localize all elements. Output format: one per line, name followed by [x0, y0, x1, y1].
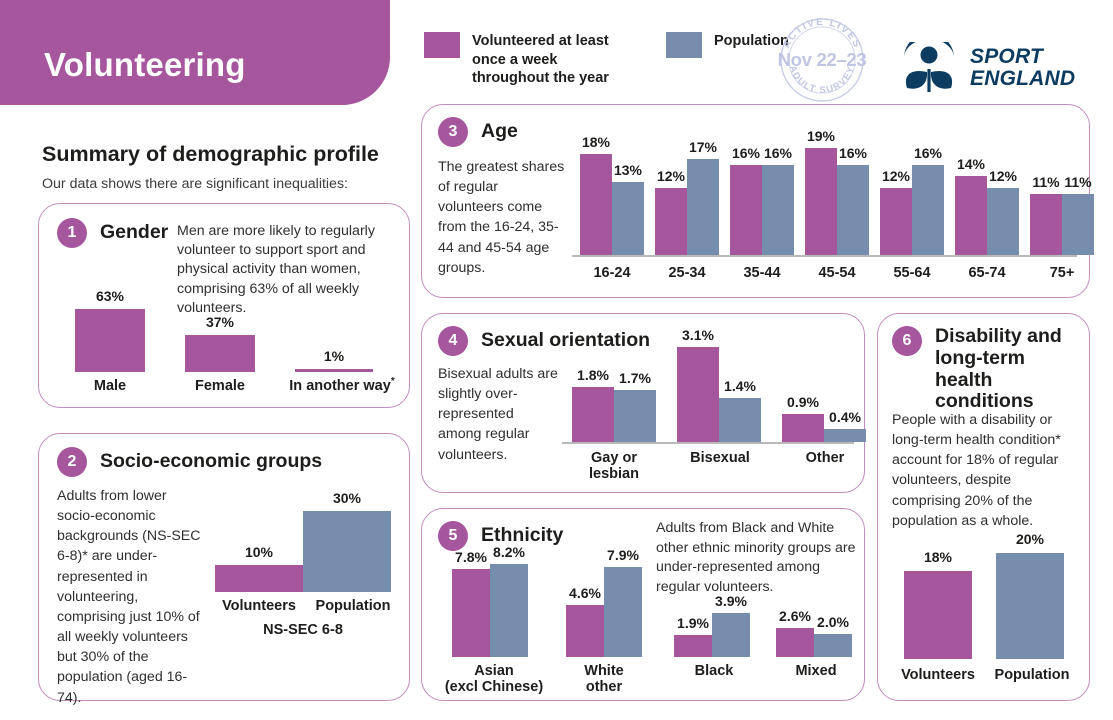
bar-label-age-65-74-population: 12%	[989, 168, 1017, 184]
summary-subtitle: Our data shows there are significant ine…	[42, 176, 348, 192]
bar-age-25-34-population: 17%	[687, 159, 719, 255]
bar-group-age-45-54: 19% 16%	[805, 148, 869, 255]
panel-ethnicity-badge: 5	[438, 521, 468, 551]
bar-label-age-75plus-population: 11%	[1064, 174, 1091, 190]
bar-asian-population: 8.2%	[490, 564, 528, 657]
bar-label-age-55-64-volunteers: 12%	[882, 168, 910, 184]
bar-group-female: 37%	[185, 335, 255, 372]
panel-disability-text: People with a disability or long-term he…	[892, 410, 1082, 531]
cat-asian-line1: Asian	[426, 663, 562, 679]
cat-label-another-way-text: In another way	[289, 378, 391, 394]
panel-ethnicity: 5 Ethnicity Adults from Black and White …	[421, 508, 865, 701]
bar-age-45-54-volunteers: 19%	[805, 148, 837, 255]
bar-other-orientation-volunteers: 0.9%	[782, 414, 824, 442]
cat-label-black: Black	[666, 663, 762, 679]
cat-label-male: Male	[75, 378, 145, 394]
legend-swatch-purple-icon	[424, 32, 460, 58]
bar-mixed-volunteers: 2.6%	[776, 628, 814, 657]
axis-caption-socio: NS-SEC 6-8	[215, 622, 391, 638]
bar-label-other-orientation-population: 0.4%	[829, 409, 861, 425]
bar-group-male: 63%	[75, 309, 145, 372]
bar-black-volunteers: 1.9%	[674, 635, 712, 657]
bar-bisexual-population: 1.4%	[719, 398, 761, 442]
cat-label-socio-volunteers: Volunteers	[209, 598, 309, 614]
footnote-asterisk-gender: *	[391, 376, 395, 387]
bar-label-mixed-volunteers: 2.6%	[779, 608, 811, 624]
bar-label-black-population: 3.9%	[715, 593, 747, 609]
cat-label-age-35-44: 35-44	[722, 265, 802, 281]
bar-group-disability-volunteers: 18%	[904, 571, 972, 659]
bar-group-asian: 7.8% 8.2%	[452, 564, 528, 657]
svg-text:ACTIVE LIVES: ACTIVE LIVES	[781, 17, 863, 50]
bar-label-another-way: 1%	[324, 348, 344, 364]
bar-age-35-44-population: 16%	[762, 165, 794, 255]
bar-disability-population: 20%	[996, 553, 1064, 659]
bar-label-age-45-54-volunteers: 19%	[807, 128, 835, 144]
bar-group-another-way: 1%	[295, 369, 373, 372]
bar-gay-lesbian-population: 1.7%	[614, 390, 656, 442]
cat-label-age-75plus: 75+	[1022, 265, 1102, 281]
page-title: Volunteering	[44, 46, 246, 84]
bar-label-asian-volunteers: 7.8%	[455, 549, 487, 565]
active-lives-stamp: ACTIVE LIVES ADULT SURVEY Nov 22–23	[767, 16, 877, 104]
cat-gay-line1: Gay or	[566, 450, 662, 466]
bar-label-disability-population: 20%	[1016, 531, 1044, 547]
bar-group-age-65-74: 14% 12%	[955, 176, 1019, 255]
sport-england-wordmark: SPORT ENGLAND	[970, 46, 1075, 89]
bar-group-age-75plus: 11% 11%	[1030, 194, 1094, 255]
panel-gender-title: Gender	[100, 222, 168, 244]
cat-asian-line2: (excl Chinese)	[426, 679, 562, 695]
bar-label-mixed-population: 2.0%	[817, 614, 849, 630]
logo-line-1: SPORT	[970, 46, 1075, 68]
bar-label-age-25-34-population: 17%	[689, 139, 717, 155]
cat-label-age-45-54: 45-54	[797, 265, 877, 281]
bar-label-black-volunteers: 1.9%	[677, 615, 709, 631]
chart-age: 18% 13% 16-24 12% 17% 25-34 16%	[572, 119, 1077, 287]
cat-white-line1: White	[554, 663, 654, 679]
bar-label-age-16-24-population: 13%	[614, 162, 642, 178]
panel-sexual-orientation: 4 Sexual orientation Bisexual adults are…	[421, 313, 865, 493]
bar-other-orientation-population: 0.4%	[824, 429, 866, 442]
panel-socio-head: 2 Socio-economic groups	[57, 447, 322, 477]
bar-age-75plus-volunteers: 11%	[1030, 194, 1062, 255]
chart-orientation-axis	[562, 442, 854, 444]
bar-group-age-16-24: 18% 13%	[580, 154, 644, 255]
bar-group-white-other: 4.6% 7.9%	[566, 567, 642, 657]
chart-socio-economic: 10% 30% Volunteers Population NS-SEC 6-8	[209, 518, 399, 638]
panel-orientation-text: Bisexual adults are slightly over-repres…	[438, 364, 558, 465]
bar-black-population: 3.9%	[712, 613, 750, 657]
cat-white-line2: other	[554, 679, 654, 695]
panel-disability-head: 6 Disability and long-term health condit…	[892, 326, 1075, 413]
panel-gender-head: 1 Gender	[57, 218, 168, 248]
bar-another-way-volunteers: 1%	[295, 369, 373, 372]
bar-label-disability-volunteers: 18%	[924, 549, 952, 565]
bar-age-45-54-population: 16%	[837, 165, 869, 255]
cat-label-age-55-64: 55-64	[872, 265, 952, 281]
cat-label-female: Female	[185, 378, 255, 394]
cat-label-disability-population: Population	[984, 667, 1080, 683]
bar-age-65-74-population: 12%	[987, 188, 1019, 255]
bar-label-age-25-34-volunteers: 12%	[657, 168, 685, 184]
bar-label-male: 63%	[96, 288, 124, 304]
cat-label-gay-lesbian: Gay or lesbian	[566, 450, 662, 482]
panel-age: 3 Age The greatest shares of regular vol…	[421, 104, 1090, 298]
bar-age-75plus-population: 11%	[1062, 194, 1094, 255]
sport-england-mark-icon	[900, 42, 958, 94]
cat-label-age-65-74: 65-74	[947, 265, 1027, 281]
bar-label-age-45-54-population: 16%	[839, 145, 867, 161]
cat-label-disability-volunteers: Volunteers	[892, 667, 984, 683]
bar-female-volunteers: 37%	[185, 335, 255, 372]
panel-socio-economic: 2 Socio-economic groups Adults from lowe…	[38, 433, 410, 701]
panel-orientation-badge: 4	[438, 326, 468, 356]
bar-group-black: 1.9% 3.9%	[674, 613, 750, 657]
stamp-date-label: Nov 22–23	[767, 49, 877, 71]
bar-group-gay-lesbian: 1.8% 1.7%	[572, 387, 656, 442]
cat-label-age-25-34: 25-34	[647, 265, 727, 281]
logo-line-2: ENGLAND	[970, 68, 1075, 90]
bar-white-other-volunteers: 4.6%	[566, 605, 604, 657]
panel-gender: 1 Gender Men are more likely to regularl…	[38, 203, 410, 408]
bar-label-age-16-24-volunteers: 18%	[582, 134, 610, 150]
cat-label-white-other: White other	[554, 663, 654, 695]
summary-title: Summary of demographic profile	[42, 142, 379, 167]
bar-group-other-orientation: 0.9% 0.4%	[782, 414, 866, 442]
bar-label-bisexual-population: 1.4%	[724, 378, 756, 394]
bar-label-age-35-44-population: 16%	[764, 145, 792, 161]
bar-white-other-population: 7.9%	[604, 567, 642, 657]
bar-label-gay-lesbian-population: 1.7%	[619, 370, 651, 386]
bar-mixed-population: 2.0%	[814, 634, 852, 657]
bar-label-asian-population: 8.2%	[493, 544, 525, 560]
bar-group-mixed: 2.6% 2.0%	[776, 628, 852, 657]
panel-socio-badge: 2	[57, 447, 87, 477]
infographic-page: Volunteering Volunteered at least once a…	[0, 0, 1113, 720]
bar-group-disability-population: 20%	[996, 553, 1064, 659]
bar-label-other-orientation-volunteers: 0.9%	[787, 394, 819, 410]
bar-disability-volunteers: 18%	[904, 571, 972, 659]
chart-gender: 63% Male 37% Female 1% In another way*	[57, 302, 397, 394]
bar-age-55-64-volunteers: 12%	[880, 188, 912, 255]
bar-group-bisexual: 3.1% 1.4%	[677, 347, 761, 442]
bar-label-gay-lesbian-volunteers: 1.8%	[577, 367, 609, 383]
bar-age-16-24-volunteers: 18%	[580, 154, 612, 255]
bar-label-age-65-74-volunteers: 14%	[957, 156, 985, 172]
panel-age-title: Age	[481, 121, 518, 143]
bar-socio-population: 30%	[303, 511, 391, 592]
bar-age-55-64-population: 16%	[912, 165, 944, 255]
bar-label-white-other-volunteers: 4.6%	[569, 585, 601, 601]
bar-label-socio-population: 30%	[333, 490, 361, 506]
cat-label-other-orientation: Other	[777, 450, 873, 466]
panel-age-badge: 3	[438, 117, 468, 147]
cat-label-mixed: Mixed	[768, 663, 864, 679]
bar-label-age-35-44-volunteers: 16%	[732, 145, 760, 161]
chart-legend: Volunteered at least once a week through…	[424, 32, 789, 88]
chart-age-axis	[572, 255, 1077, 257]
bar-male-volunteers: 63%	[75, 309, 145, 372]
bar-label-age-55-64-population: 16%	[914, 145, 942, 161]
bar-age-65-74-volunteers: 14%	[955, 176, 987, 255]
bar-group-socio: 10% 30%	[215, 511, 391, 592]
panel-disability: 6 Disability and long-term health condit…	[877, 313, 1090, 701]
cat-label-asian: Asian (excl Chinese)	[426, 663, 562, 695]
bar-group-age-25-34: 12% 17%	[655, 159, 719, 255]
cat-label-age-16-24: 16-24	[572, 265, 652, 281]
header-banner: Volunteering	[0, 0, 390, 105]
panel-gender-badge: 1	[57, 218, 87, 248]
panel-disability-title: Disability and long-term health conditio…	[935, 326, 1075, 413]
bar-label-female: 37%	[206, 314, 234, 330]
bar-age-35-44-volunteers: 16%	[730, 165, 762, 255]
legend-item-volunteered: Volunteered at least once a week through…	[424, 32, 622, 88]
bar-bisexual-volunteers: 3.1%	[677, 347, 719, 442]
chart-disability: 18% Volunteers 20% Population	[892, 532, 1080, 687]
bar-age-25-34-volunteers: 12%	[655, 188, 687, 255]
panel-disability-badge: 6	[892, 326, 922, 356]
legend-swatch-blue-icon	[666, 32, 702, 58]
bar-label-socio-volunteers: 10%	[245, 544, 273, 560]
bar-label-age-75plus-volunteers: 11%	[1032, 174, 1059, 190]
bar-asian-volunteers: 7.8%	[452, 569, 490, 657]
chart-ethnicity: 7.8% 8.2% Asian (excl Chinese) 4.6% 7.9%	[436, 557, 856, 697]
cat-label-bisexual: Bisexual	[672, 450, 768, 466]
bar-group-age-35-44: 16% 16%	[730, 165, 794, 255]
bar-age-16-24-population: 13%	[612, 182, 644, 255]
panel-socio-text: Adults from lower socio-economic backgro…	[57, 486, 207, 708]
cat-gay-line2: lesbian	[566, 466, 662, 482]
cat-label-another-way: In another way*	[283, 376, 401, 394]
panel-age-text: The greatest shares of regular volunteer…	[438, 157, 566, 278]
legend-label-volunteered: Volunteered at least once a week through…	[472, 32, 622, 88]
bar-label-white-other-population: 7.9%	[607, 547, 639, 563]
bar-socio-volunteers: 10%	[215, 565, 303, 592]
bar-label-bisexual-volunteers: 3.1%	[682, 327, 714, 343]
chart-sexual-orientation: 1.8% 1.7% Gay or lesbian 3.1% 1.4% Bisex	[562, 336, 854, 486]
cat-label-socio-population: Population	[303, 598, 403, 614]
sport-england-logo: SPORT ENGLAND	[900, 42, 1075, 94]
bar-gay-lesbian-volunteers: 1.8%	[572, 387, 614, 442]
bar-group-age-55-64: 12% 16%	[880, 165, 944, 255]
panel-age-head: 3 Age	[438, 117, 518, 147]
panel-socio-title: Socio-economic groups	[100, 451, 322, 473]
